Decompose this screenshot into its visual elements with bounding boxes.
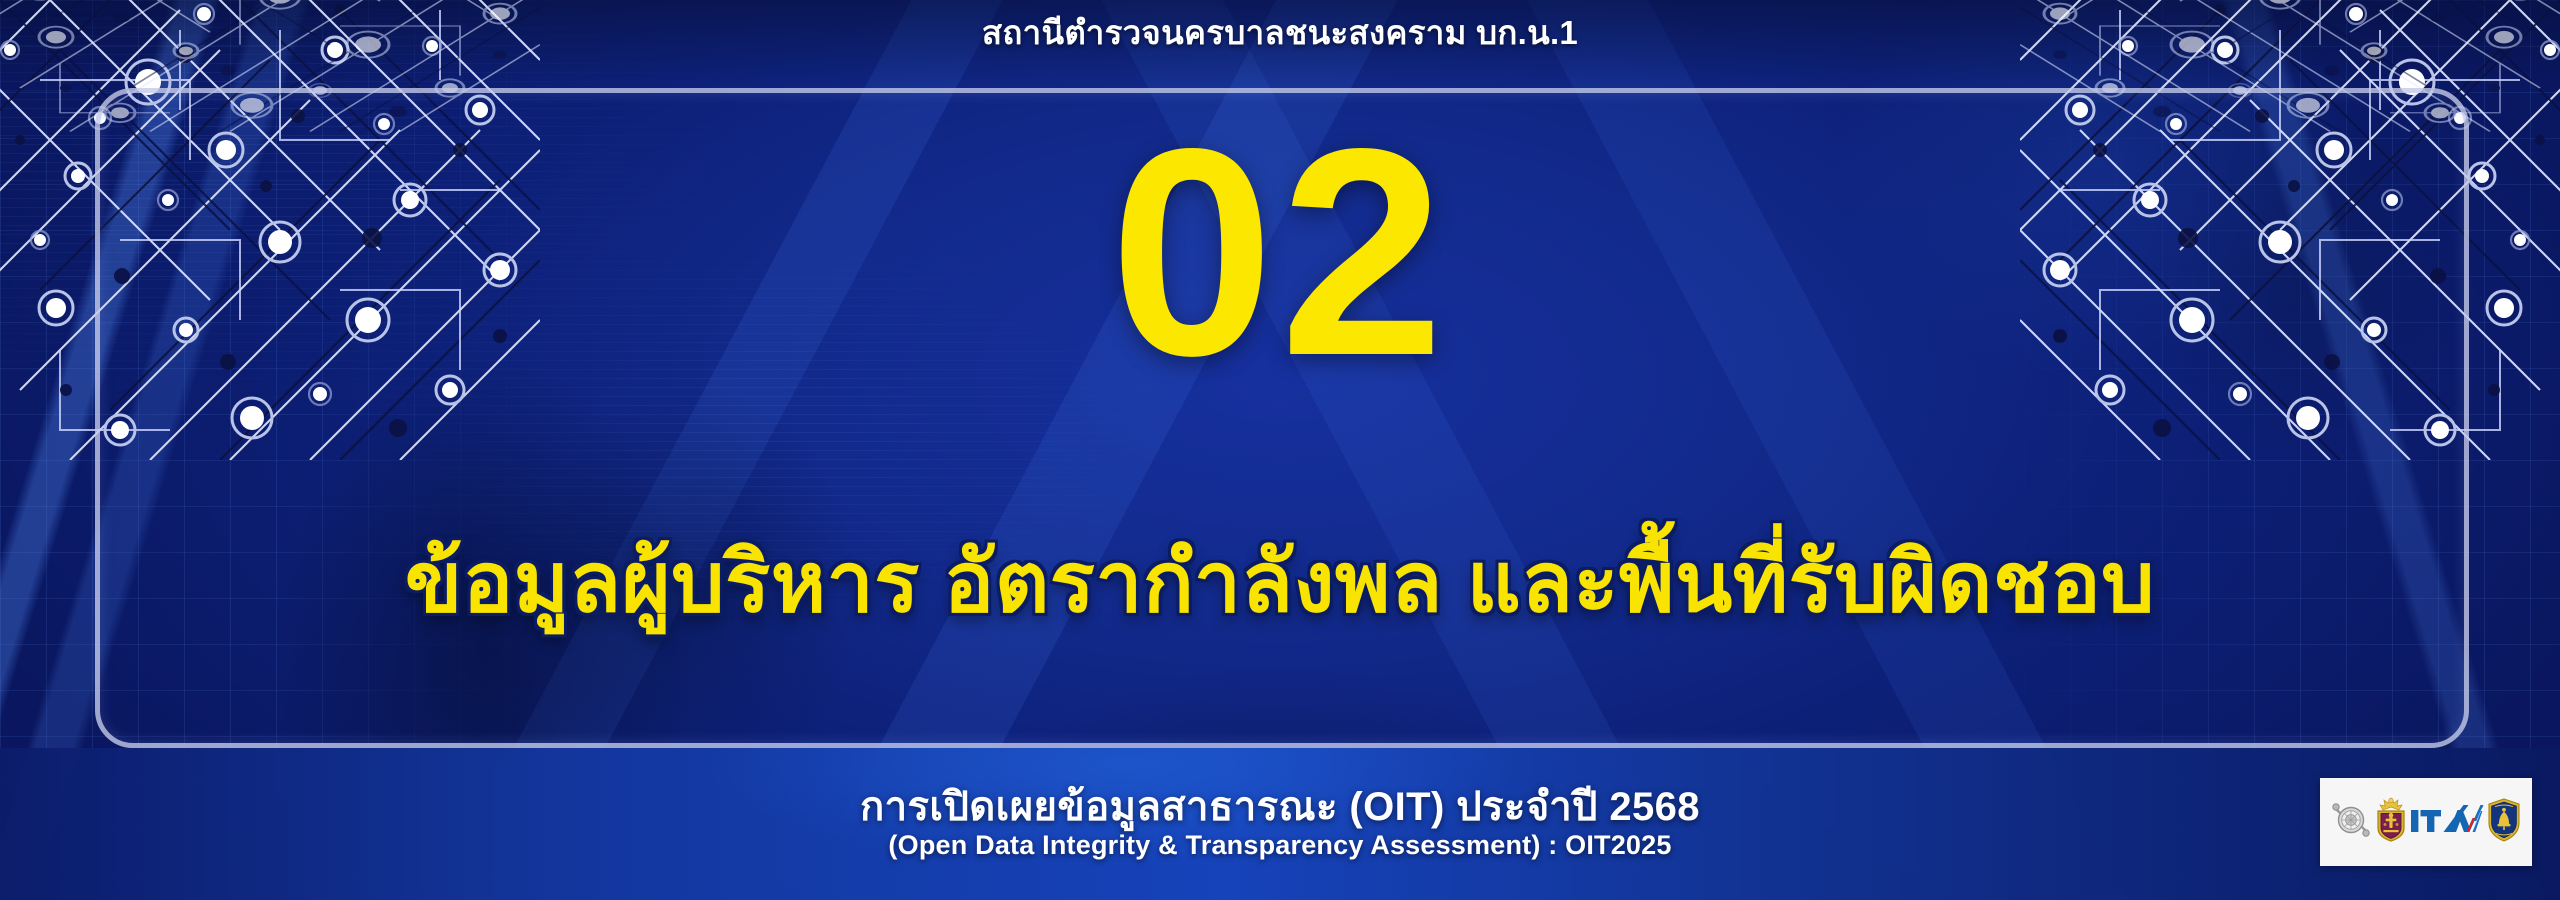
nacc-shield-icon: [2487, 798, 2521, 847]
government-seal-icon: [2331, 799, 2371, 846]
oit-subtitle-thai: การเปิดเผยข้อมูลสาธารณะ (OIT) ประจำปี 25…: [0, 774, 2560, 838]
ita-wordmark-icon: [2410, 800, 2484, 845]
oit-banner: สถานีตำรวจนครบาลชนะสงคราม บก.น.1 02 ข้อม…: [0, 0, 2560, 900]
section-number: 02: [0, 108, 2560, 397]
ita-logo-strip: [2320, 778, 2532, 866]
station-name: สถานีตำรวจนครบาลชนะสงคราม บก.น.1: [0, 6, 2560, 59]
oit-subtitle-english: (Open Data Integrity & Transparency Asse…: [0, 830, 2560, 861]
page-title: ข้อมูลผู้บริหาร อัตรากำลังพล และพื้นที่ร…: [0, 538, 2560, 627]
royal-thai-police-emblem-icon: [2374, 797, 2408, 848]
